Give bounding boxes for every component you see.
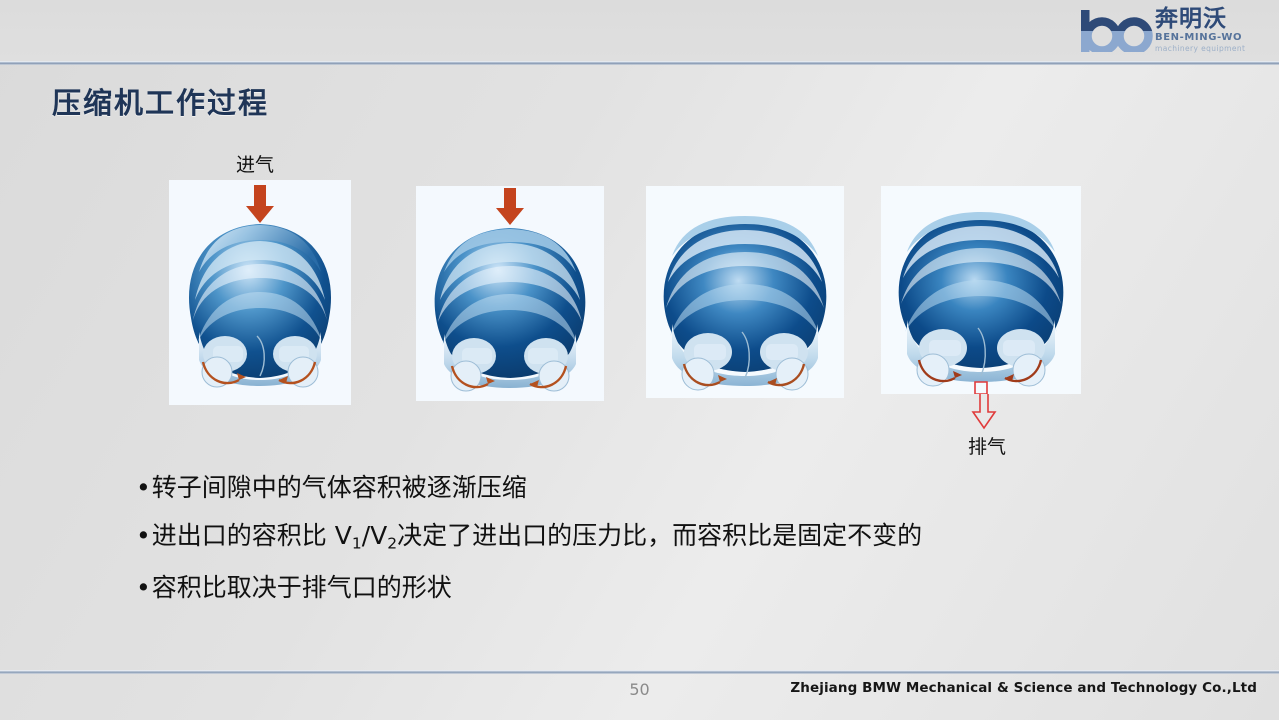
bullet-text-pre: 进出口的容积比 V: [152, 521, 352, 550]
logo-cn-name: 奔明沃: [1155, 8, 1245, 31]
footer-divider: [0, 670, 1279, 674]
company-logo: 奔明沃 BEN-MING-WO machinery equipment: [1079, 4, 1269, 56]
bullet-text: 容积比取决于排气口的形状: [152, 573, 452, 602]
footer-company-name: Zhejiang BMW Mechanical & Science and Te…: [790, 680, 1257, 696]
subscript-one: 1: [352, 534, 362, 552]
rotor-stage-4-figure: [881, 186, 1081, 394]
exhaust-label: 排气: [968, 432, 1006, 459]
logo-tagline: machinery equipment: [1155, 45, 1245, 53]
list-item: •容积比取决于排气口的形状: [136, 575, 1086, 600]
list-item: •转子间隙中的气体容积被逐渐压缩: [136, 475, 1086, 500]
page-title: 压缩机工作过程: [52, 80, 269, 122]
subscript-two: 2: [387, 534, 397, 552]
logo-en-name: BEN-MING-WO: [1155, 33, 1245, 43]
slide-canvas: 奔明沃 BEN-MING-WO machinery equipment 压缩机工…: [0, 0, 1279, 720]
intake-label: 进气: [236, 150, 274, 177]
bullet-text-mid: /V: [362, 521, 388, 550]
bullet-text: 转子间隙中的气体容积被逐渐压缩: [152, 473, 527, 502]
bullet-marker: •: [136, 523, 151, 548]
list-item: •进出口的容积比 V1/V2决定了进出口的压力比，而容积比是固定不变的: [136, 523, 1086, 552]
logo-wordmark: 奔明沃 BEN-MING-WO machinery equipment: [1155, 8, 1245, 53]
bullet-marker: •: [136, 475, 151, 500]
bullet-marker: •: [136, 575, 151, 600]
rotor-stage-2-figure: [416, 186, 604, 401]
rotor-stage-3-figure: [646, 186, 844, 398]
exhaust-arrow-outline-icon: [970, 390, 998, 434]
bullet-text-post: 决定了进出口的压力比，而容积比是固定不变的: [397, 521, 922, 550]
header-divider: [0, 61, 1279, 65]
bo-monogram-icon: [1079, 10, 1153, 50]
rotor-stage-1-figure: [169, 180, 351, 405]
bullet-list: •转子间隙中的气体容积被逐渐压缩 •进出口的容积比 V1/V2决定了进出口的压力…: [136, 475, 1086, 623]
